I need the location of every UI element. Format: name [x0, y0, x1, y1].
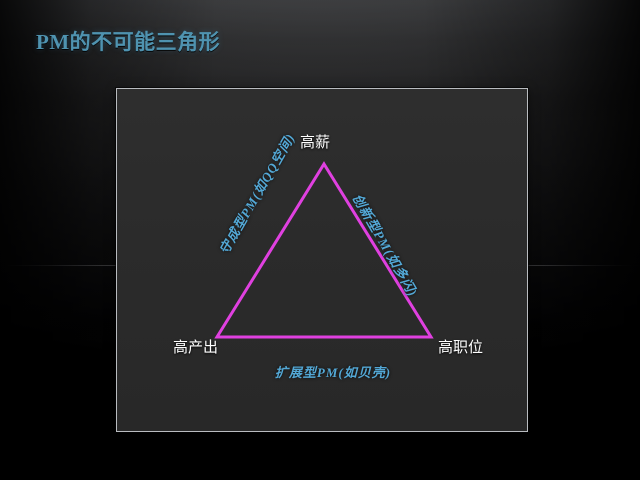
slide-canvas: PM的不可能三角形 高薪 高产出 高职位 守成型PM(如QQ空间) 创新型PM(… — [0, 0, 640, 480]
vertex-label-bottom-left: 高产出 — [173, 336, 218, 357]
vertex-label-top: 高薪 — [300, 131, 330, 152]
vertex-label-bottom-right: 高职位 — [438, 336, 483, 357]
edge-label-bottom: 扩展型PM(如贝壳) — [275, 362, 391, 381]
slide-title: PM的不可能三角形 — [36, 26, 220, 56]
